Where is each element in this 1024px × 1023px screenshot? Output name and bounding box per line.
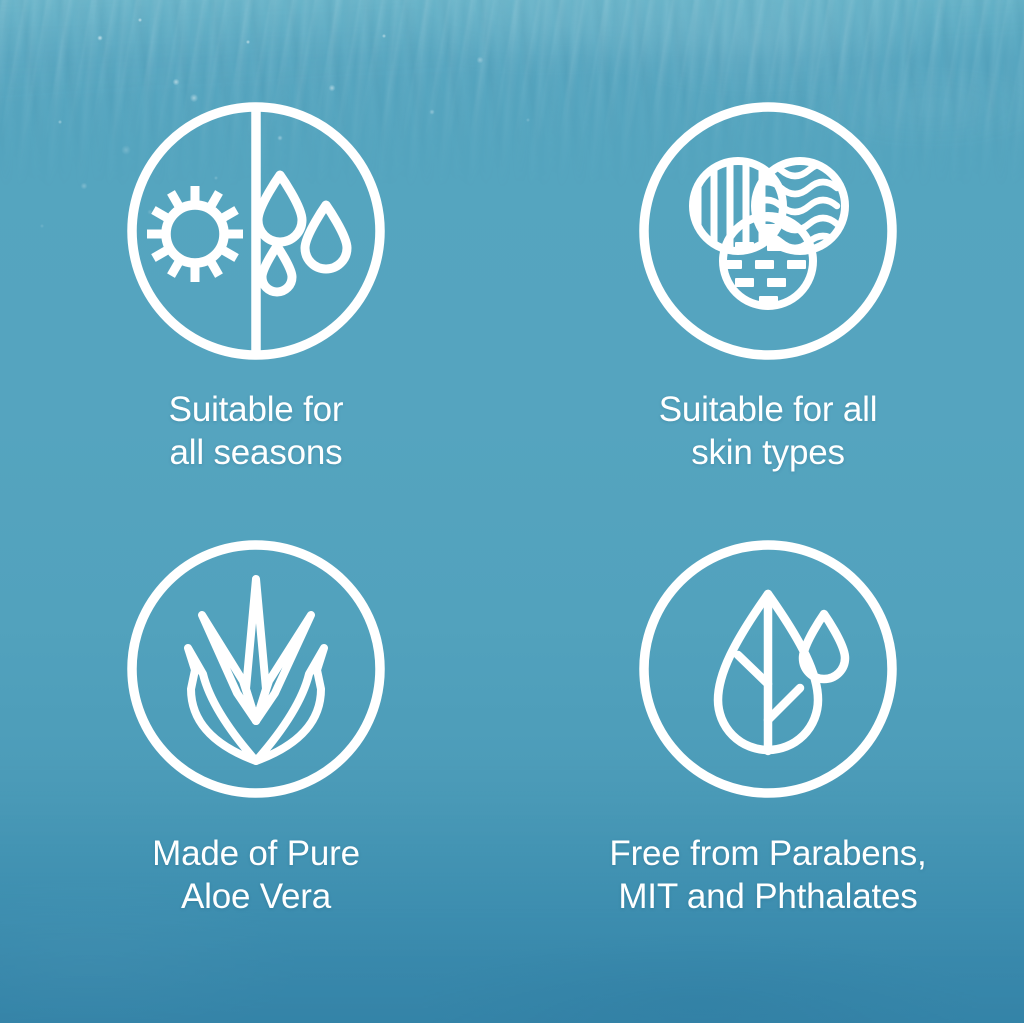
sun-glyph (147, 186, 243, 282)
leaf-and-water-drop-icon (637, 538, 899, 800)
badge-caption: Suitable for all seasons (169, 388, 344, 475)
water-drops-glyph (258, 175, 347, 292)
product-benefits-graphic: Suitable for all seasons (0, 0, 1024, 1023)
wavy-skin-circle (753, 161, 845, 251)
badge-made-of-pure-aloe-vera: Made of Pure Aloe Vera (0, 512, 512, 1023)
water-drop-glyph (803, 614, 845, 679)
badge-caption: Free from Parabens, MIT and Phthalates (609, 832, 926, 919)
badge-free-from-parabens-mit-phthalates: Free from Parabens, MIT and Phthalates (512, 512, 1024, 1023)
aloe-leaves-glyph (188, 579, 324, 761)
three-skin-texture-circles-icon (637, 100, 899, 362)
leaf-glyph (718, 594, 818, 751)
badge-caption: Made of Pure Aloe Vera (152, 832, 360, 919)
dashed-skin-circle (723, 216, 813, 306)
aloe-vera-plant-icon (125, 538, 387, 800)
badge-suitable-for-all-seasons: Suitable for all seasons (0, 0, 512, 512)
benefit-badge-grid: Suitable for all seasons (0, 0, 1024, 1023)
sun-and-water-drops-split-circle-icon (125, 100, 387, 362)
badge-caption: Suitable for all skin types (659, 388, 878, 475)
badge-suitable-for-all-skin-types: Suitable for all skin types (512, 0, 1024, 512)
